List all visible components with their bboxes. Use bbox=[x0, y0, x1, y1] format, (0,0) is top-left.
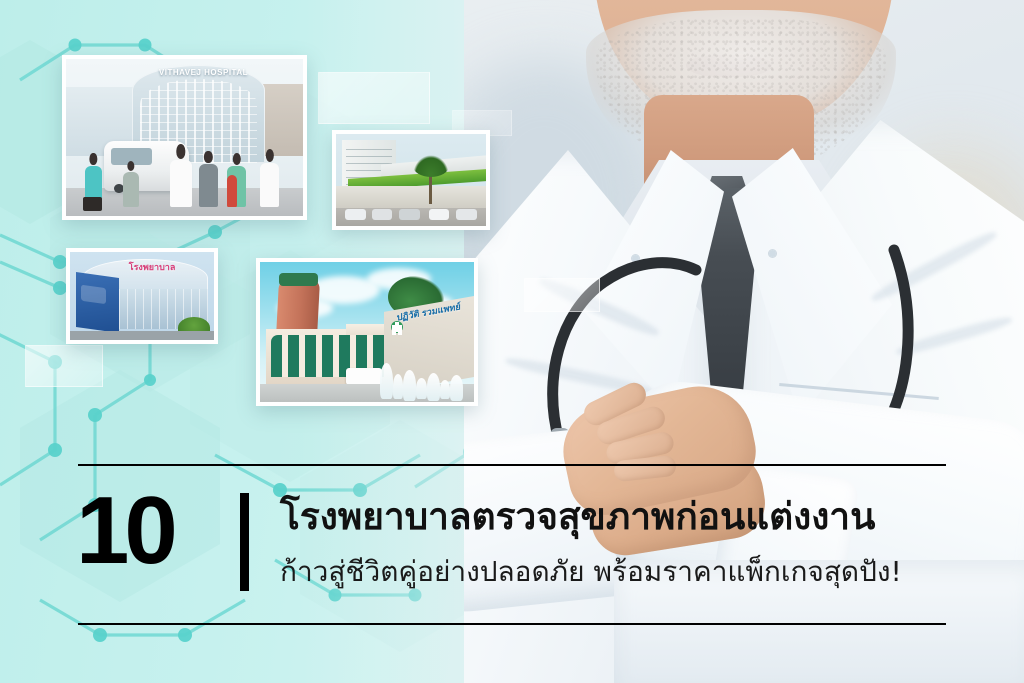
glass-card-1 bbox=[318, 72, 430, 124]
photo-glass-hospital[interactable]: โรงพยาบาล bbox=[66, 248, 218, 344]
page-subtitle: ก้าวสู่ชีวิตคู่อย่างปลอดภัย พร้อมราคาแพ็… bbox=[280, 554, 970, 589]
photo-1-caption: VITHAVEJ HOSPITAL bbox=[142, 67, 265, 81]
page-title: โรงพยาบาลตรวจสุขภาพก่อนแต่งงาน bbox=[280, 495, 960, 539]
rank-number: 10 bbox=[76, 487, 173, 575]
photo-green-hospital[interactable] bbox=[332, 130, 490, 230]
vertical-divider bbox=[240, 493, 249, 591]
photo-fountain-hospital[interactable]: ปฏิวัติ รวมแพทย์ bbox=[256, 258, 478, 406]
glass-card-3 bbox=[25, 345, 103, 387]
poster-canvas: VITHAVEJ HOSPITAL bbox=[0, 0, 1024, 683]
divider-line-top bbox=[78, 464, 946, 466]
photo-hospital-staff[interactable]: VITHAVEJ HOSPITAL bbox=[62, 55, 307, 220]
divider-line-bottom bbox=[78, 623, 946, 625]
glass-card-2 bbox=[524, 278, 600, 312]
photo-3-caption: โรงพยาบาล bbox=[102, 260, 203, 272]
